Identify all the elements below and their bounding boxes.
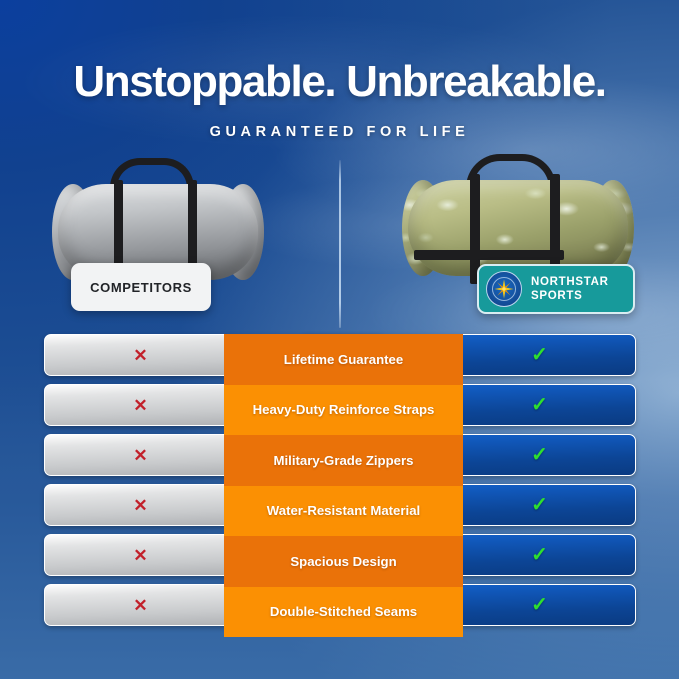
feature-label: Spacious Design xyxy=(282,554,404,569)
hero-section: Unstoppable. Unbreakable. GUARANTEED FOR… xyxy=(0,0,679,140)
feature-label-cell: Double-Stitched Seams xyxy=(224,587,463,638)
feature-label-cell: Lifetime Guarantee xyxy=(224,334,463,385)
feature-name-column: Lifetime GuaranteeHeavy-Duty Reinforce S… xyxy=(224,334,463,638)
check-icon: ✓ xyxy=(531,445,548,465)
feature-label-cell: Spacious Design xyxy=(224,536,463,587)
page-title: Unstoppable. Unbreakable. xyxy=(0,60,679,104)
vertical-divider xyxy=(339,160,341,328)
feature-label: Water-Resistant Material xyxy=(259,503,428,518)
comparison-table: ✕✓✕✓✕✓✕✓✕✓✕✓ Lifetime GuaranteeHeavy-Dut… xyxy=(0,334,679,634)
competitors-label-card: COMPETITORS xyxy=(71,263,211,311)
starburst-icon xyxy=(493,278,515,300)
cross-icon: ✕ xyxy=(133,397,147,414)
northstar-brand-card: NORTHSTAR SPORTS xyxy=(477,264,635,314)
brand-name-line2: SPORTS xyxy=(531,290,583,302)
feature-label: Double-Stitched Seams xyxy=(262,604,425,619)
feature-label-cell: Military-Grade Zippers xyxy=(224,435,463,486)
check-icon: ✓ xyxy=(531,595,548,615)
check-icon: ✓ xyxy=(531,495,548,515)
feature-label: Heavy-Duty Reinforce Straps xyxy=(245,402,443,417)
brand-name-label: NORTHSTAR SPORTS xyxy=(531,275,609,304)
bag-body xyxy=(408,180,628,276)
cross-icon: ✕ xyxy=(133,597,147,614)
check-icon: ✓ xyxy=(531,395,548,415)
bag-strap-horizontal xyxy=(414,250,564,260)
cross-icon: ✕ xyxy=(133,347,147,364)
cross-icon: ✕ xyxy=(133,447,147,464)
check-icon: ✓ xyxy=(531,545,548,565)
feature-label-cell: Heavy-Duty Reinforce Straps xyxy=(224,385,463,436)
competitors-label: COMPETITORS xyxy=(90,280,192,295)
cross-icon: ✕ xyxy=(133,497,147,514)
feature-label: Military-Grade Zippers xyxy=(266,453,422,468)
brand-name-line1: NORTHSTAR xyxy=(531,276,609,288)
page-subtitle: GUARANTEED FOR LIFE xyxy=(0,124,679,140)
feature-label-cell: Water-Resistant Material xyxy=(224,486,463,537)
check-icon: ✓ xyxy=(531,345,548,365)
feature-label: Lifetime Guarantee xyxy=(276,352,411,367)
cross-icon: ✕ xyxy=(133,547,147,564)
northstar-compass-emblem-icon xyxy=(486,271,522,307)
